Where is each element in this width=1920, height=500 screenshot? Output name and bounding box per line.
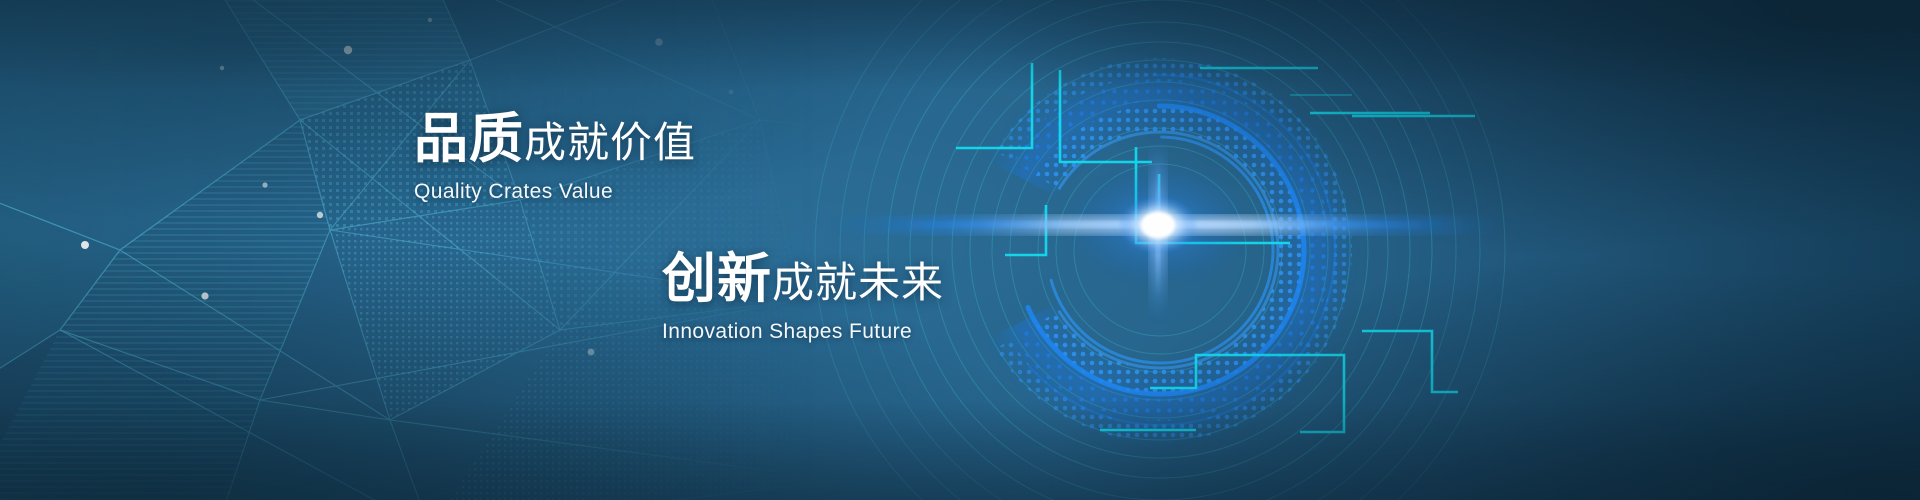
slogan-innovation-cn: 创新成就未来	[662, 252, 944, 306]
slogan-quality-cn: 品质成就价值	[414, 112, 696, 166]
slogan-innovation-cn-rest: 成就未来	[772, 259, 944, 306]
slogan-block-innovation: 创新成就未来 Innovation Shapes Future	[662, 252, 944, 344]
vignette-overlay	[0, 0, 1920, 500]
hero-banner: 品质成就价值 Quality Crates Value 创新成就未来 Innov…	[0, 0, 1920, 500]
slogan-quality-cn-rest: 成就价值	[524, 119, 696, 166]
slogan-innovation-en: Innovation Shapes Future	[662, 320, 944, 344]
slogan-innovation-cn-lead: 创新	[662, 249, 772, 309]
slogan-quality-cn-lead: 品质	[414, 109, 524, 169]
slogan-quality-en: Quality Crates Value	[414, 180, 696, 204]
slogan-block-quality: 品质成就价值 Quality Crates Value	[414, 112, 696, 204]
